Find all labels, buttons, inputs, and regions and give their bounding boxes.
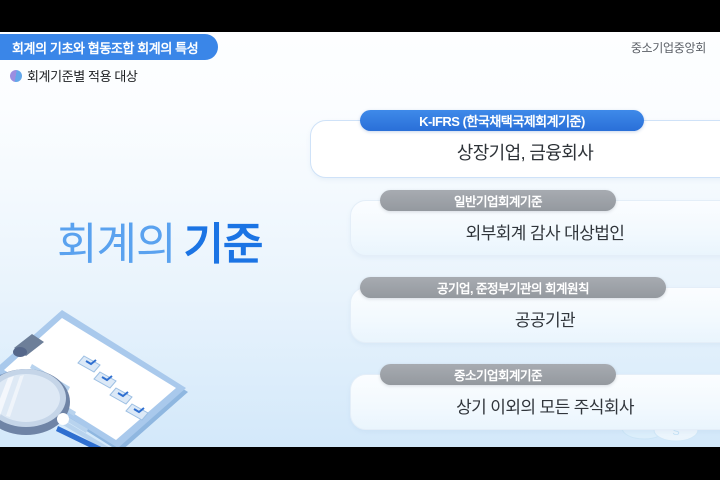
card-label-pill: 중소기업회계기준 xyxy=(380,364,616,385)
card-label-pill: 일반기업회계기준 xyxy=(380,190,616,211)
standard-card-sme[interactable]: 상기 이외의 모든 주식회사 중소기업회계기준 xyxy=(350,364,720,430)
standard-card-general[interactable]: 외부회계 감사 대상법인 일반기업회계기준 xyxy=(350,190,720,256)
card-label-pill: K-IFRS (한국채택국제회계기준) xyxy=(360,110,644,131)
letterbox-bottom xyxy=(0,447,720,480)
page-title: 회계의기준 xyxy=(57,208,262,272)
card-label-pill: 공기업, 준정부기관의 회계원칙 xyxy=(360,277,666,298)
header-bar: 회계의 기초와 협동조합 회계의 특성 xyxy=(0,34,218,60)
header-title: 회계의 기초와 협동조합 회계의 특성 xyxy=(12,38,198,57)
card-value: 상기 이외의 모든 주식회사 xyxy=(456,393,634,418)
card-value: 외부회계 감사 대상법인 xyxy=(466,219,625,244)
card-label-text: 공기업, 준정부기관의 회계원칙 xyxy=(437,278,589,297)
organization-name: 중소기업중앙회 xyxy=(631,39,706,56)
page-title-soft: 회계의 xyxy=(57,220,175,269)
slide-frame: 회계의 기초와 협동조합 회계의 특성 중소기업중앙회 회계기준별 적용 대상 … xyxy=(0,0,720,480)
slide-canvas: 회계의 기초와 협동조합 회계의 특성 중소기업중앙회 회계기준별 적용 대상 … xyxy=(0,32,720,447)
card-label-text: K-IFRS (한국채택국제회계기준) xyxy=(419,111,585,130)
letterbox-top xyxy=(0,0,720,32)
standard-card-public[interactable]: 공공기관 공기업, 준정부기관의 회계원칙 xyxy=(350,277,720,343)
page-title-strong: 기준 xyxy=(183,220,262,269)
card-value: 상장기업, 금융회사 xyxy=(457,139,593,165)
subtitle-text: 회계기준별 적용 대상 xyxy=(27,66,137,85)
card-label-text: 일반기업회계기준 xyxy=(454,191,542,210)
bullet-dot-icon xyxy=(10,70,22,82)
clipboard-magnifier-icon xyxy=(0,300,192,447)
card-value: 공공기관 xyxy=(515,306,575,331)
card-label-text: 중소기업회계기준 xyxy=(454,365,542,384)
standard-card-k-ifrs[interactable]: 상장기업, 금융회사 K-IFRS (한국채택국제회계기준) xyxy=(310,110,720,178)
subtitle-row: 회계기준별 적용 대상 xyxy=(10,66,137,85)
